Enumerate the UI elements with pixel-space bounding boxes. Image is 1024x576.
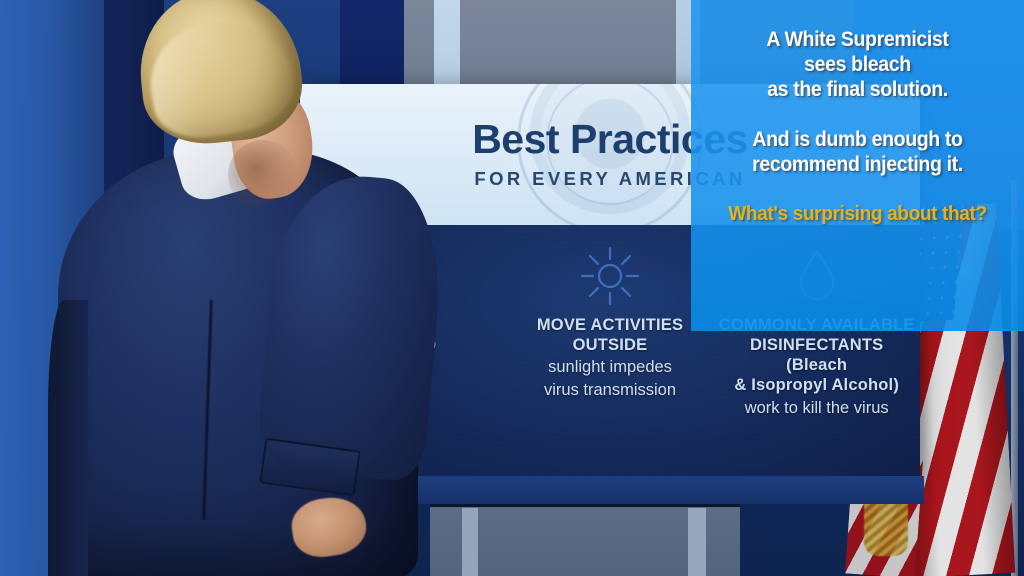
caption-overlay: A White Supremicist sees bleach as the f… [691, 0, 1024, 331]
caption-paragraph-1: A White Supremicist sees bleach as the f… [691, 28, 1024, 102]
caption-paragraph-3: What's surprising about that? [691, 202, 1024, 226]
caption-line-1: A White Supremicist [703, 28, 1013, 53]
slide-column-outside: MOVE ACTIVITIES OUTSIDE sunlight impedes… [507, 225, 714, 476]
caption-line-2: sees bleach [703, 53, 1013, 78]
column-heading-line3: & Isopropyl Alcohol) [730, 375, 903, 395]
caption-paragraph-2: And is dumb enough to recommend injectin… [691, 128, 1024, 178]
column-subtext-line1: work to kill the virus [741, 398, 893, 418]
sun-icon [579, 237, 641, 315]
column-heading-line2: OUTSIDE [569, 335, 652, 355]
subject-figure [0, 0, 460, 576]
caption-line-3: as the final solution. [703, 78, 1013, 103]
column-heading-line1: MOVE ACTIVITIES [533, 315, 687, 335]
column-heading-line2: DISINFECTANTS (Bleach [713, 335, 920, 375]
meme-image: Best Practices FOR EVERY AMERICAN MIDIT [0, 0, 1024, 576]
neck-shadow [228, 140, 298, 210]
caption-line-4: And is dumb enough to [703, 128, 1013, 153]
caption-spacer-2 [691, 178, 1024, 202]
podium-edge-right [688, 508, 706, 576]
caption-line-5: recommend injecting it. [703, 153, 1013, 178]
caption-line-6: What's surprising about that? [703, 202, 1013, 226]
suit-arm-left [48, 300, 88, 576]
podium-edge-left [462, 508, 478, 576]
column-subtext-line1: sunlight impedes [544, 357, 676, 377]
column-subtext-line2: virus transmission [540, 380, 680, 400]
caption-spacer-1 [691, 102, 1024, 128]
